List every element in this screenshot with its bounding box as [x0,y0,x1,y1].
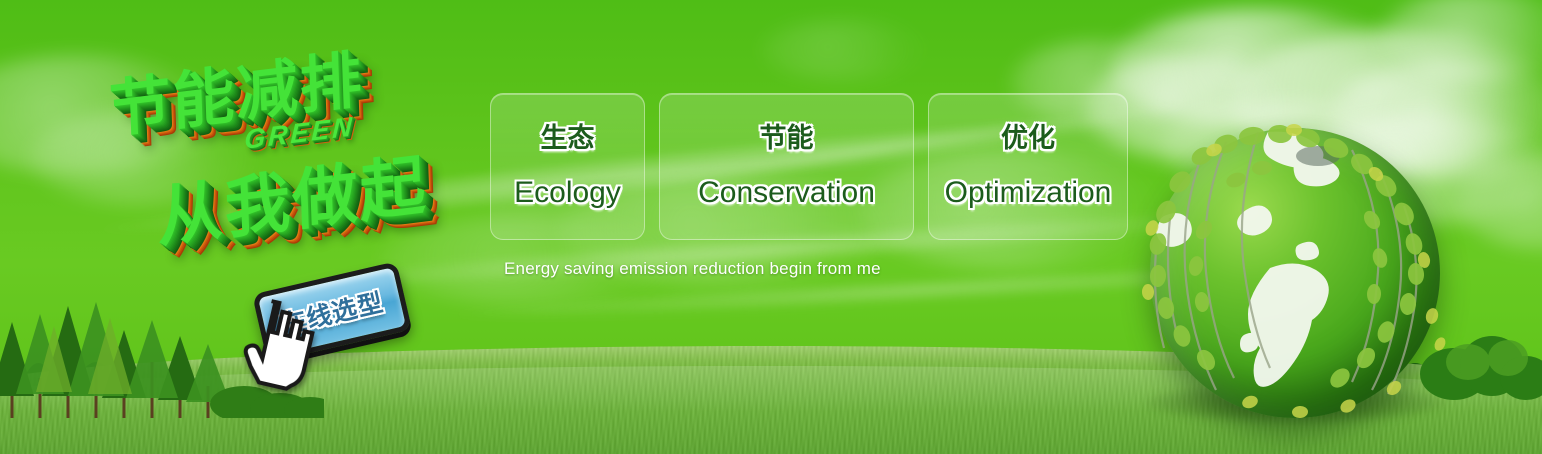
leafy-green-globe-icon [1140,120,1450,430]
feature-label-en: Ecology [514,178,621,208]
cloud-icon [760,20,930,80]
headline-3d-art: 节能减排 GREEN 从我做起 [96,36,496,272]
feature-label-cn: 生态 [541,125,595,152]
cloud-icon [1380,0,1542,80]
tagline-text: Energy saving emission reduction begin f… [504,259,881,279]
feature-label-cn: 优化 [1001,125,1055,152]
feature-label-en: Optimization [945,178,1112,208]
eco-hero-banner: 节能减排 GREEN 从我做起 在线选型 生态 Ecology 节能 Conse… [0,0,1542,454]
feature-box-ecology[interactable]: 生态 Ecology [490,93,645,240]
feature-label-cn: 节能 [760,125,814,152]
headline-line-2: 从我做起 [155,131,428,260]
cloud-icon [1455,155,1542,250]
feature-box-optimization[interactable]: 优化 Optimization [928,93,1128,240]
feature-box-conservation[interactable]: 节能 Conservation [659,93,914,240]
globe-sphere [1150,128,1440,418]
feature-label-en: Conservation [698,178,875,208]
cloud-icon [1110,8,1410,128]
feature-box-group: 生态 Ecology 节能 Conservation 优化 Optimizati… [490,93,1128,240]
